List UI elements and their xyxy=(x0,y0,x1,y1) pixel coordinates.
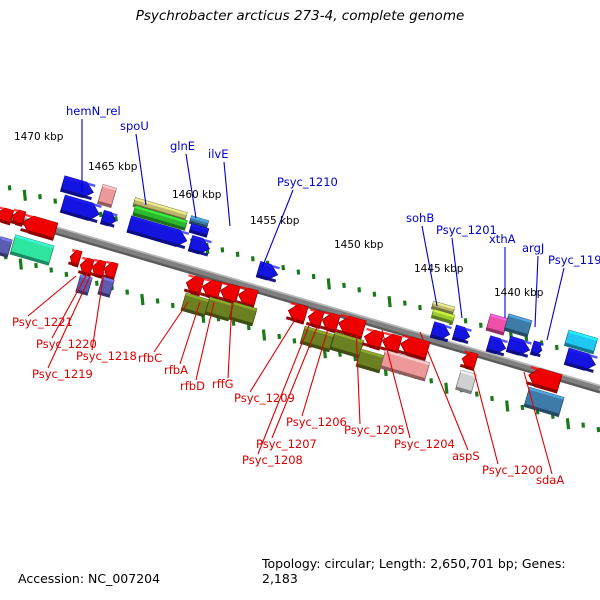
scale-tick-label: 1440 kbp xyxy=(494,287,544,299)
tick-mark xyxy=(418,305,422,310)
gene-label-minus[interactable]: rffG xyxy=(212,377,234,391)
tick-mark xyxy=(281,265,285,270)
scale-tick-label: 1460 kbp xyxy=(172,189,222,201)
tick-mark xyxy=(19,258,23,269)
gene-label-minus[interactable]: rfbD xyxy=(180,379,205,393)
scale-tick-label: 1455 kbp xyxy=(250,215,300,227)
tick-mark xyxy=(342,283,346,288)
gene-label-minus-leader-line xyxy=(28,276,76,316)
gene-label-plus-leader-line xyxy=(452,238,462,318)
tick-mark xyxy=(221,247,225,252)
tick-mark xyxy=(566,418,570,429)
gene-label-minus[interactable]: rfbC xyxy=(138,351,162,365)
tick-mark xyxy=(479,323,483,328)
gene-label-plus[interactable]: xthA xyxy=(489,232,516,246)
tick-mark xyxy=(65,272,69,277)
gene-label-minus[interactable]: Psyc_1208 xyxy=(242,453,303,467)
gene-body xyxy=(60,195,102,223)
scale-tick-label: 1445 kbp xyxy=(414,263,464,275)
tick-mark xyxy=(475,391,479,396)
gene-label-minus-leader-line xyxy=(258,318,312,454)
gene-label-plus-leader-line xyxy=(224,162,230,226)
gene-label-plus-leader-line xyxy=(186,154,196,218)
gene-label-plus[interactable]: Psyc_1201 xyxy=(436,223,497,237)
tick-mark xyxy=(403,300,407,305)
gene-label-minus[interactable]: Psyc_1200 xyxy=(482,463,543,477)
tick-mark xyxy=(327,278,331,289)
tick-mark xyxy=(236,252,240,257)
tick-mark xyxy=(312,274,316,279)
accession-label: Accession: NC_007204 xyxy=(18,571,160,586)
tick-mark xyxy=(464,318,468,323)
tick-mark xyxy=(34,263,38,268)
tick-mark xyxy=(293,338,297,343)
tick-mark xyxy=(53,198,57,203)
gene-feature-plus[interactable] xyxy=(530,341,544,357)
tick-mark xyxy=(23,190,27,201)
gene-label-minus[interactable]: rfbA xyxy=(164,363,188,377)
gene-feature-plus[interactable] xyxy=(256,262,280,283)
scale-tick-label: 1465 kbp xyxy=(88,161,138,173)
gene-feature-minus[interactable] xyxy=(456,370,477,394)
gene-label-minus-leader-line xyxy=(470,356,498,464)
gene-label-plus[interactable]: Psyc_1210 xyxy=(277,175,338,189)
tick-mark xyxy=(125,289,129,294)
gene-body xyxy=(10,235,54,265)
tick-mark xyxy=(521,405,525,410)
tick-mark xyxy=(38,194,42,199)
gene-label-plus[interactable]: sohB xyxy=(406,211,434,225)
gene-label-minus[interactable]: sdaA xyxy=(536,473,564,487)
gene-label-plus[interactable]: spoU xyxy=(120,119,149,133)
scale-tick-label: 1450 kbp xyxy=(334,239,384,251)
gene-label-minus[interactable]: Psyc_1206 xyxy=(286,415,347,429)
tick-mark xyxy=(49,267,53,272)
tick-mark xyxy=(357,287,361,292)
gene-label-minus[interactable]: Psyc_1204 xyxy=(394,437,455,451)
gene-label-plus-leader-line xyxy=(547,268,564,340)
tick-mark xyxy=(156,298,160,303)
genome-stats-label: Topology: circular; Length: 2,650,701 bp… xyxy=(262,556,600,586)
gene-label-plus[interactable]: hemN_rel xyxy=(66,104,121,118)
tick-mark xyxy=(387,296,391,307)
gene-feature-minus[interactable] xyxy=(68,249,82,267)
gene-feature-plus[interactable] xyxy=(452,325,472,344)
gene-feature-plus[interactable] xyxy=(100,210,117,227)
gene-feature-minus[interactable] xyxy=(181,293,209,317)
scale-tick-label: 1470 kbp xyxy=(14,131,64,143)
tick-mark xyxy=(490,396,494,401)
tick-mark xyxy=(171,303,175,308)
tick-mark xyxy=(95,281,99,286)
tick-mark xyxy=(262,329,266,340)
tick-mark xyxy=(429,378,433,383)
gene-feature-minus[interactable] xyxy=(356,349,384,373)
gene-label-plus[interactable]: ilvE xyxy=(208,147,228,161)
tick-mark xyxy=(597,427,600,432)
gene-label-plus[interactable]: Psyc_1197 xyxy=(548,253,600,267)
gene-feature-minus[interactable] xyxy=(10,235,54,265)
gene-label-minus-leader-line xyxy=(250,318,296,392)
genome-diagram: hemN_relspoUglnEilvEPsyc_1210sohBPsyc_12… xyxy=(0,0,600,600)
gene-feature-plus[interactable] xyxy=(504,314,532,337)
gene-label-plus[interactable]: argJ xyxy=(522,241,544,255)
gene-label-plus-leader-line xyxy=(136,134,146,205)
gene-label-plus-leader-line xyxy=(262,190,293,268)
tick-mark xyxy=(555,345,559,350)
gene-label-minus[interactable]: Psyc_1219 xyxy=(32,367,93,381)
gene-label-minus-leader-line xyxy=(154,302,188,352)
gene-label-minus[interactable]: Psyc_1207 xyxy=(256,437,317,451)
tick-mark xyxy=(251,256,255,261)
gene-feature-plus[interactable] xyxy=(97,184,116,207)
tick-mark xyxy=(373,292,377,297)
gene-feature-plus[interactable] xyxy=(60,195,102,223)
tick-mark xyxy=(277,334,281,339)
tick-mark xyxy=(8,185,12,190)
gene-label-minus[interactable]: aspS xyxy=(452,449,480,463)
tick-mark xyxy=(297,269,301,274)
gene-label-plus[interactable]: glnE xyxy=(170,139,195,153)
tick-mark xyxy=(140,294,144,305)
tick-mark xyxy=(581,422,585,427)
tick-mark xyxy=(505,400,509,411)
genome-map-canvas: Psychrobacter arcticus 273-4, complete g… xyxy=(0,0,600,600)
gene-label-minus[interactable]: Psyc_1205 xyxy=(344,423,405,437)
gene-label-minus[interactable]: Psyc_1218 xyxy=(76,349,137,363)
